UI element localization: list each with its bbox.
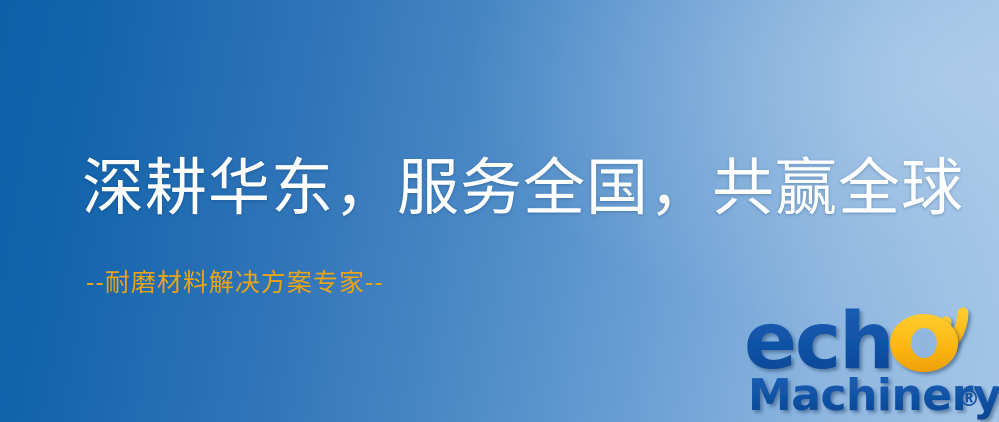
echo-machinery-logo: ech Machinery ®	[742, 296, 994, 418]
banner-subtitle: --耐磨材料解决方案专家--	[86, 266, 384, 300]
logo-wordmark-o	[890, 314, 958, 372]
hero-banner: 深耕华东，服务全国，共赢全球 --耐磨材料解决方案专家--	[0, 0, 999, 422]
banner-headline: 深耕华东，服务全国，共赢全球	[82, 151, 964, 225]
logo-registered-mark: ®	[958, 387, 980, 412]
